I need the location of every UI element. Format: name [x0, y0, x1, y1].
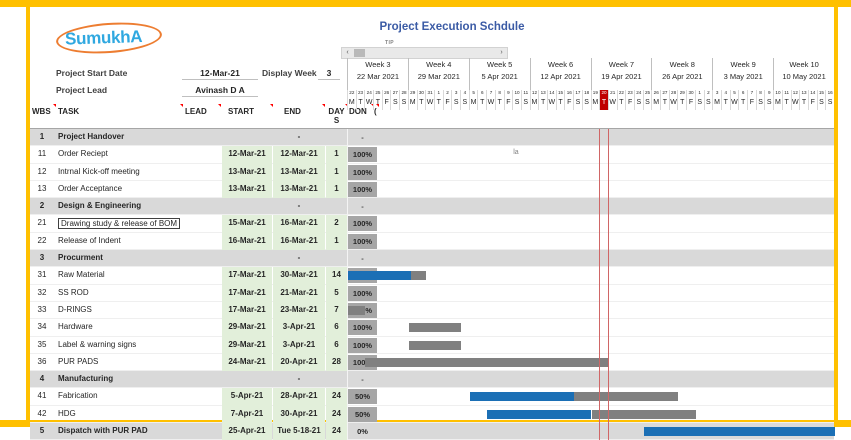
column-header-lead: LEAD	[185, 107, 207, 116]
timeline-day-number: 26	[382, 90, 391, 99]
timeline-day-letter: S	[582, 99, 591, 110]
cell-task: Drawing study & release of BOM	[58, 218, 180, 229]
timeline-day-letter: F	[443, 99, 452, 110]
cell-start: 29-Mar-21	[222, 337, 272, 354]
display-week-label: Display Week	[262, 68, 317, 78]
week-label: Week 5	[470, 60, 530, 69]
timeline-day-letter: W	[547, 99, 556, 110]
gantt-bar-complete[interactable]	[470, 392, 574, 401]
cell-wbs: 32	[30, 288, 54, 297]
comment-marker-end	[270, 104, 273, 107]
scroll-left-arrow-icon[interactable]: ‹	[342, 48, 353, 58]
page-border-right	[834, 7, 838, 420]
cell-task: Manufacturing	[58, 374, 113, 383]
cell-days: 6	[326, 319, 347, 336]
cell-wbs: 12	[30, 167, 54, 176]
table-row-group[interactable]: 4Manufacturing--	[30, 371, 834, 388]
timeline-day-number: 3	[451, 90, 460, 99]
cell-start: 7-Apr-21	[222, 406, 272, 423]
timeline-day-number: 1	[695, 90, 704, 99]
cell-task: Raw Material	[58, 270, 105, 279]
timeline-day-letter: F	[686, 99, 695, 110]
project-start-date-label: Project Start Date	[56, 68, 127, 78]
table-row[interactable]: 33D-RINGS17-Mar-2123-Mar-217100%	[30, 302, 834, 319]
table-row[interactable]: 32SS ROD17-Mar-2121-Mar-215100%	[30, 285, 834, 302]
column-header-days: DAY S	[325, 107, 348, 125]
week-label: Week 8	[652, 60, 712, 69]
cell-start: 24-Mar-21	[222, 354, 272, 371]
table-row[interactable]: 11Order Reciept12-Mar-2112-Mar-211100%la	[30, 146, 834, 163]
cell-task: D-RINGS	[58, 305, 92, 314]
table-row-group[interactable]: 2Design & Engineering--	[30, 198, 834, 215]
gantt-row-pane	[347, 233, 834, 250]
timeline-day-number: 27	[390, 90, 399, 99]
week-date: 12 Apr 2021	[531, 72, 591, 81]
timeline-day-letter: S	[451, 99, 460, 110]
timeline-day-number: 20	[599, 90, 608, 99]
cell-wbs: 22	[30, 236, 54, 245]
scroll-right-arrow-icon[interactable]: ›	[496, 48, 507, 58]
comment-marker-lead	[180, 104, 183, 107]
cell-task: Label & warning signs	[58, 340, 136, 349]
cell-task: Fabrication	[58, 391, 98, 400]
timeline-day-letter: S	[634, 99, 643, 110]
timeline-week-8: Week 1010 May 2021	[773, 58, 834, 90]
timeline-day-number: 17	[573, 90, 582, 99]
cell-start: 25-Apr-21	[222, 423, 272, 440]
timeline-day-letter: M	[773, 99, 782, 110]
timeline-day-letter: T	[495, 99, 504, 110]
cell-task: Dispatch with PUR PAD	[58, 426, 148, 435]
cell-end: 16-Mar-21	[273, 233, 325, 250]
column-header-days-line1: DAY	[328, 107, 344, 116]
timeline-day-number: 24	[364, 90, 373, 99]
cell-wbs: 21	[30, 218, 54, 227]
cell-end: 3-Apr-21	[273, 337, 325, 354]
timeline-day-number: 12	[530, 90, 539, 99]
timeline-day-letter: S	[573, 99, 582, 110]
timeline-day-letter: W	[364, 99, 373, 110]
cell-days: 24	[326, 406, 347, 423]
today-marker-line-1	[599, 129, 600, 440]
week-date: 10 May 2021	[774, 72, 834, 81]
gantt-row-pane	[347, 129, 834, 146]
cell-start: 13-Mar-21	[222, 181, 272, 198]
timeline-day-number: 9	[504, 90, 513, 99]
gantt-row-pane	[347, 371, 834, 388]
timeline-day-letter: W	[425, 99, 434, 110]
table-row-group[interactable]: 5Dispatch with PUR PAD25-Apr-21Tue 5-18-…	[30, 423, 834, 440]
table-row[interactable]: 31Raw Material17-Mar-2130-Mar-211480%	[30, 267, 834, 284]
timeline-day-number: 7	[747, 90, 756, 99]
cell-task: Project Handover	[58, 132, 124, 141]
cell-start: 17-Mar-21	[222, 267, 272, 284]
timeline-day-letter: M	[347, 99, 356, 110]
timeline-day-number: 6	[477, 90, 486, 99]
timeline-day-number: 2	[704, 90, 713, 99]
timeline-day-number: 14	[808, 90, 817, 99]
week-date: 22 Mar 2021	[348, 72, 408, 81]
gantt-row-pane	[347, 302, 834, 319]
week-date: 5 Apr 2021	[470, 72, 530, 81]
timeline-day-number: 27	[660, 90, 669, 99]
timeline-header: Week 322 Mar 202122M23T24W25T26F27S28SWe…	[347, 103, 834, 129]
timeline-week-6: Week 826 Apr 2021	[651, 58, 712, 90]
table-row[interactable]: 41Fabrication5-Apr-2128-Apr-212450%	[30, 388, 834, 405]
timeline-day-number: 2	[443, 90, 452, 99]
today-marker-line-2	[608, 129, 609, 440]
timeline-day-letter: M	[408, 99, 417, 110]
timeline-day-number: 29	[677, 90, 686, 99]
timeline-day-letter: T	[738, 99, 747, 110]
timeline-day-number: 23	[356, 90, 365, 99]
gantt-row-pane	[347, 181, 834, 198]
cell-days: 7	[326, 302, 347, 319]
page-title: Project Execution Schdule	[352, 21, 552, 33]
timeline-day-number: 30	[686, 90, 695, 99]
cell-start: 5-Apr-21	[222, 388, 272, 405]
timeline-day-number: 28	[669, 90, 678, 99]
cell-wbs: 4	[30, 374, 54, 383]
timeline-day-letter: T	[356, 99, 365, 110]
timeline-day-number: 31	[425, 90, 434, 99]
week-label: Week 3	[348, 60, 408, 69]
timeline-day-letter: M	[712, 99, 721, 110]
gantt-bar-remaining[interactable]	[411, 271, 427, 280]
cell-task: Order Reciept	[58, 149, 108, 158]
table-row[interactable]: 42HDG7-Apr-2130-Apr-212450%	[30, 406, 834, 423]
timeline-day-number: 8	[495, 90, 504, 99]
timeline-day-letter: S	[825, 99, 834, 110]
timeline-day-number: 22	[347, 90, 356, 99]
cell-wbs: 13	[30, 184, 54, 193]
cell-start: 16-Mar-21	[222, 233, 272, 250]
timeline-day-letter: F	[564, 99, 573, 110]
week-label: Week 7	[592, 60, 652, 69]
gantt-row-pane	[347, 164, 834, 181]
gantt-bar-remaining[interactable]	[409, 341, 461, 350]
logo-text: SumukhA	[65, 26, 162, 49]
table-row[interactable]: 34Hardware29-Mar-213-Apr-216100%	[30, 319, 834, 336]
timeline-day-number: 28	[399, 90, 408, 99]
cell-start: 17-Mar-21	[222, 302, 272, 319]
cell-wbs: 36	[30, 357, 54, 366]
cell-end: 21-Mar-21	[273, 285, 325, 302]
timeline-day-letter: M	[651, 99, 660, 110]
cell-wbs: 34	[30, 322, 54, 331]
timeline-day-letter: T	[782, 99, 791, 110]
timeline-day-letter: T	[599, 99, 608, 110]
gantt-row-pane	[347, 267, 834, 284]
gantt-row-pane	[347, 388, 834, 405]
gantt-row-pane	[347, 423, 834, 440]
cell-end: 12-Mar-21	[273, 146, 325, 163]
timeline-day-letter: T	[721, 99, 730, 110]
timeline-day-number: 10	[512, 90, 521, 99]
timeline-day-number: 13	[799, 90, 808, 99]
timeline-day-number: 15	[817, 90, 826, 99]
timeline-day-letter: T	[417, 99, 426, 110]
company-logo: SumukhA	[56, 18, 164, 58]
week-date: 26 Apr 2021	[652, 72, 712, 81]
cell-wbs: 2	[30, 201, 54, 210]
cell-days: 1	[326, 146, 347, 163]
timeline-day-letter: M	[469, 99, 478, 110]
gantt-bar-complete[interactable]	[644, 427, 835, 436]
cell-start: 29-Mar-21	[222, 319, 272, 336]
timeline-day-letter: F	[747, 99, 756, 110]
timeline-day-letter: W	[791, 99, 800, 110]
table-header-row: WBS TASK LEAD START END DAY S DON ( Week…	[30, 103, 834, 129]
cell-end-dash: -	[273, 129, 325, 146]
gantt-row-pane	[347, 198, 834, 215]
timeline-day-number: 4	[721, 90, 730, 99]
cell-days: 24	[326, 423, 347, 440]
timeline-day-number: 26	[651, 90, 660, 99]
gantt-row-pane	[347, 250, 834, 267]
week-date: 29 Mar 2021	[409, 72, 469, 81]
cell-end-dash: -	[273, 250, 325, 267]
cell-days: 1	[326, 164, 347, 181]
timeline-day-number: 10	[773, 90, 782, 99]
timeline-day-letter: S	[704, 99, 713, 110]
timeline-day-number: 8	[756, 90, 765, 99]
table-body: 1Project Handover--11Order Reciept12-Mar…	[30, 129, 834, 440]
cell-task: Order Acceptance	[58, 184, 122, 193]
cell-wbs: 33	[30, 305, 54, 314]
cell-end: Tue 5-18-21	[273, 423, 325, 440]
gantt-row-pane	[347, 354, 834, 371]
timeline-day-number: 18	[582, 90, 591, 99]
gantt-bar-remaining[interactable]	[365, 358, 609, 367]
gantt-chart-page: SumukhA Project Start Date 12-Mar-21 Pro…	[0, 0, 851, 427]
table-row[interactable]: 22Release of Indent16-Mar-2116-Mar-21110…	[30, 233, 834, 250]
timeline-day-number: 9	[764, 90, 773, 99]
week-label: Week 4	[409, 60, 469, 69]
timeline-day-letter: F	[382, 99, 391, 110]
gantt-table: WBS TASK LEAD START END DAY S DON ( Week…	[30, 103, 834, 440]
timeline-day-letter: M	[591, 99, 600, 110]
page-border-top	[0, 0, 851, 7]
timeline-day-letter: F	[625, 99, 634, 110]
cell-days: 6	[326, 337, 347, 354]
cell-wbs: 35	[30, 340, 54, 349]
tip-label: TIP	[385, 40, 394, 46]
timeline-day-number: 19	[591, 90, 600, 99]
cell-task: HDG	[58, 409, 76, 418]
gantt-bar-remaining[interactable]	[348, 306, 365, 315]
timeline-day-letter: F	[808, 99, 817, 110]
gantt-bar-remaining[interactable]	[409, 323, 461, 332]
timeline-day-number: 30	[417, 90, 426, 99]
cell-task: PUR PADS	[58, 357, 98, 366]
gantt-row-pane	[347, 285, 834, 302]
display-week-value[interactable]: 3	[318, 68, 340, 80]
timeline-day-letter: W	[608, 99, 617, 110]
cell-end: 13-Mar-21	[273, 181, 325, 198]
cell-days: 2	[326, 215, 347, 232]
cell-end-dash: -	[273, 371, 325, 388]
week-label: Week 9	[713, 60, 773, 69]
timeline-day-number: 14	[547, 90, 556, 99]
cell-days: 1	[326, 181, 347, 198]
project-lead-label: Project Lead	[56, 85, 107, 95]
cell-task: SS ROD	[58, 288, 89, 297]
timeline-day-number: 15	[556, 90, 565, 99]
timeline-day-number: 11	[521, 90, 530, 99]
cell-wbs: 41	[30, 391, 54, 400]
timeline-week-3: Week 55 Apr 2021	[469, 58, 530, 90]
gantt-row-pane	[347, 215, 834, 232]
cell-wbs: 1	[30, 132, 54, 141]
timeline-day-letter: S	[643, 99, 652, 110]
timeline-day-letter: W	[486, 99, 495, 110]
cell-days: 14	[326, 267, 347, 284]
scrollbar-thumb[interactable]	[354, 49, 365, 57]
timeline-day-letter: T	[799, 99, 808, 110]
timeline-day-letter: W	[669, 99, 678, 110]
gantt-bar-complete[interactable]	[348, 271, 411, 280]
cell-wbs: 5	[30, 426, 54, 435]
timeline-week-5: Week 719 Apr 2021	[591, 58, 652, 90]
timeline-day-letter: T	[538, 99, 547, 110]
timeline-day-letter: T	[373, 99, 382, 110]
column-header-end: END	[284, 107, 301, 116]
timeline-day-letter: S	[695, 99, 704, 110]
cell-task: Release of Indent	[58, 236, 121, 245]
week-date: 19 Apr 2021	[592, 72, 652, 81]
timeline-week-2: Week 429 Mar 2021	[408, 58, 469, 90]
cell-task: Procurment	[58, 253, 103, 262]
week-date: 3 May 2021	[713, 72, 773, 81]
comment-marker-days	[322, 104, 325, 107]
cell-wbs: 11	[30, 149, 54, 158]
cell-end: 23-Mar-21	[273, 302, 325, 319]
timeline-day-letter: S	[764, 99, 773, 110]
cell-days: 5	[326, 285, 347, 302]
timeline-day-number: 25	[373, 90, 382, 99]
cell-wbs: 42	[30, 409, 54, 418]
timeline-day-number: 6	[738, 90, 747, 99]
timeline-day-number: 11	[782, 90, 791, 99]
cell-end: 13-Mar-21	[273, 164, 325, 181]
timeline-day-letter: T	[434, 99, 443, 110]
timeline-day-letter: T	[660, 99, 669, 110]
timeline-day-letter: S	[521, 99, 530, 110]
timeline-day-letter: T	[617, 99, 626, 110]
table-row[interactable]: 36PUR PADS24-Mar-2120-Apr-2128100%	[30, 354, 834, 371]
timeline-day-number: 5	[469, 90, 478, 99]
timeline-day-letter: S	[817, 99, 826, 110]
timeline-day-letter: S	[390, 99, 399, 110]
gantt-row-pane	[347, 337, 834, 354]
cell-task: Hardware	[58, 322, 93, 331]
gantt-row-pane	[347, 319, 834, 336]
comment-marker-wbs	[53, 104, 56, 107]
timeline-day-number: 22	[617, 90, 626, 99]
table-row[interactable]: 13Order Acceptance13-Mar-2113-Mar-211100…	[30, 181, 834, 198]
timeline-week-4: Week 612 Apr 2021	[530, 58, 591, 90]
timeline-week-7: Week 93 May 2021	[712, 58, 773, 90]
table-row[interactable]: 12Intrnal Kick-off meeting13-Mar-2113-Ma…	[30, 164, 834, 181]
timeline-day-letter: T	[556, 99, 565, 110]
timeline-day-number: 16	[564, 90, 573, 99]
timeline-day-number: 13	[538, 90, 547, 99]
timeline-day-number: 21	[608, 90, 617, 99]
cell-end: 3-Apr-21	[273, 319, 325, 336]
timeline-day-letter: W	[730, 99, 739, 110]
timeline-day-letter: F	[504, 99, 513, 110]
timeline-day-number: 4	[460, 90, 469, 99]
week-label: Week 6	[531, 60, 591, 69]
table-row[interactable]: 35Label & warning signs29-Mar-213-Apr-21…	[30, 337, 834, 354]
table-row-group[interactable]: 3Procurment--	[30, 250, 834, 267]
cell-start: 15-Mar-21	[222, 215, 272, 232]
column-header-wbs: WBS	[32, 107, 51, 116]
timeline-day-letter: S	[399, 99, 408, 110]
column-header-task: TASK	[58, 107, 79, 116]
cell-days: 28	[326, 354, 347, 371]
timeline-day-number: 3	[712, 90, 721, 99]
timeline-day-number: 5	[730, 90, 739, 99]
timeline-day-letter: S	[756, 99, 765, 110]
timeline-day-number: 16	[825, 90, 834, 99]
timeline-day-number: 12	[791, 90, 800, 99]
cell-task: Design & Engineering	[58, 201, 141, 210]
timeline-day-letter: T	[677, 99, 686, 110]
cell-task: Intrnal Kick-off meeting	[58, 167, 140, 176]
timeline-day-number: 24	[634, 90, 643, 99]
cell-start: 17-Mar-21	[222, 285, 272, 302]
cell-end-dash: -	[273, 198, 325, 215]
cell-end: 30-Mar-21	[273, 267, 325, 284]
timeline-week-1: Week 322 Mar 2021	[347, 58, 408, 90]
gantt-bar-remaining[interactable]	[574, 392, 678, 401]
cell-days: 1	[326, 233, 347, 250]
week-label: Week 10	[774, 60, 834, 69]
cell-start: 12-Mar-21	[222, 146, 272, 163]
table-row[interactable]: 21Drawing study & release of BOM15-Mar-2…	[30, 215, 834, 232]
timeline-day-letter: M	[530, 99, 539, 110]
gantt-bar-complete[interactable]	[487, 410, 591, 419]
timeline-day-number: 29	[408, 90, 417, 99]
timeline-day-letter: S	[512, 99, 521, 110]
timeline-day-number: 25	[643, 90, 652, 99]
column-header-days-line2: S	[334, 116, 339, 125]
cell-wbs: 31	[30, 270, 54, 279]
cell-days: 24	[326, 388, 347, 405]
timeline-day-number: 7	[486, 90, 495, 99]
project-start-date-value[interactable]: 12-Mar-21	[182, 68, 258, 80]
column-header-start: START	[228, 107, 254, 116]
cell-wbs: 3	[30, 253, 54, 262]
comment-marker-start	[218, 104, 221, 107]
project-lead-value[interactable]: Avinash D A	[182, 85, 258, 97]
timeline-day-number: 1	[434, 90, 443, 99]
cell-start: 13-Mar-21	[222, 164, 272, 181]
cell-artifact-text: la	[513, 149, 518, 156]
timeline-day-letter: T	[477, 99, 486, 110]
cell-end: 20-Apr-21	[273, 354, 325, 371]
cell-end: 28-Apr-21	[273, 388, 325, 405]
gantt-row-pane	[347, 406, 834, 423]
timeline-day-letter: S	[460, 99, 469, 110]
gantt-row-pane: la	[347, 146, 834, 163]
cell-end: 16-Mar-21	[273, 215, 325, 232]
table-row-group[interactable]: 1Project Handover--	[30, 129, 834, 146]
timeline-day-number: 23	[625, 90, 634, 99]
cell-end: 30-Apr-21	[273, 406, 325, 423]
